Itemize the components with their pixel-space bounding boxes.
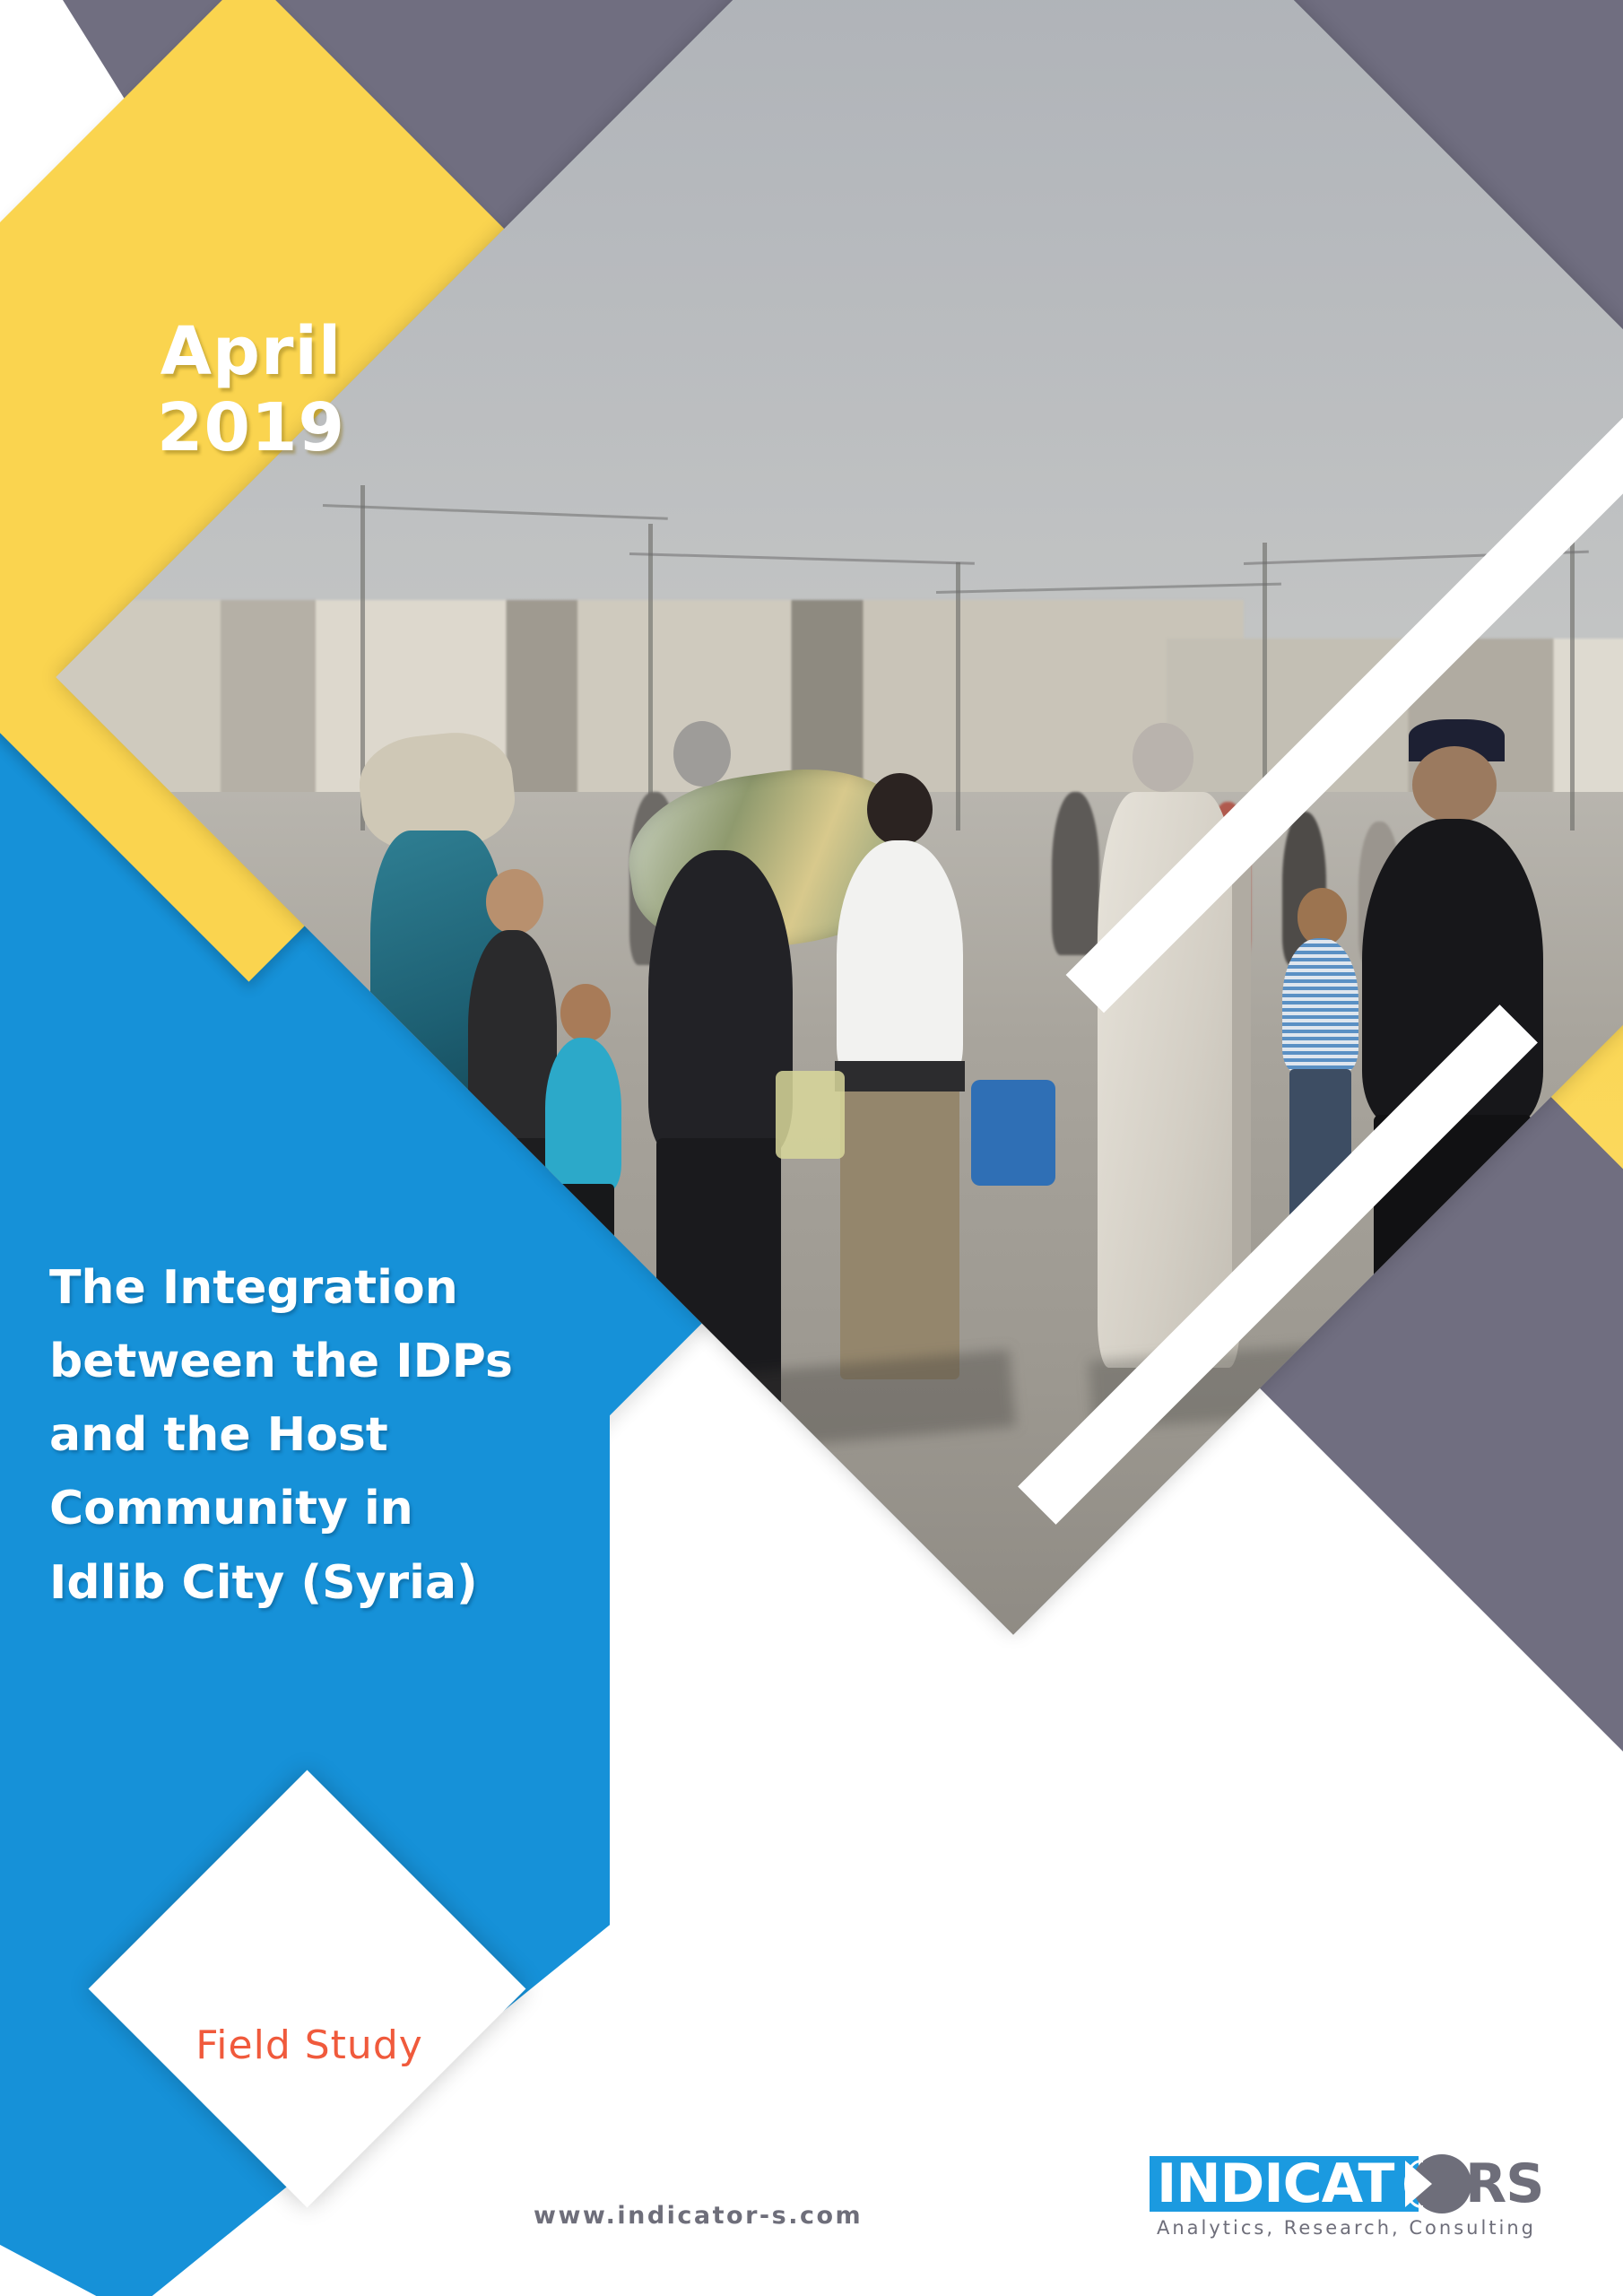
photo-figure-whiteshirt-legs xyxy=(840,1073,959,1379)
photo-pole xyxy=(648,524,653,831)
cover-page: April 2019 The Integration between the I… xyxy=(0,0,1623,2296)
photo-figure-child-head xyxy=(560,984,611,1041)
logo-word-secondary: RS xyxy=(1465,2152,1543,2215)
logo-word-primary: INDICAT xyxy=(1157,2152,1393,2215)
title-line-5: Idlib City (Syria) xyxy=(49,1546,641,1620)
photo-figure-man-head xyxy=(673,721,731,787)
photo-plastic-bag xyxy=(776,1071,845,1159)
logo-tagline: Analytics, Research, Consulting xyxy=(1157,2217,1536,2239)
date-year: 2019 xyxy=(54,390,448,466)
publication-date: April 2019 xyxy=(54,314,448,466)
play-circle-icon xyxy=(1412,2154,1471,2213)
photo-figure-whiteshirt-body xyxy=(837,840,963,1090)
title-line-1: The Integration xyxy=(49,1251,641,1325)
photo-figure-boy-head xyxy=(485,869,542,935)
page-title: The Integration between the IDPs and the… xyxy=(49,1251,641,1620)
photo-figure xyxy=(1052,792,1100,955)
indicators-logo: INDICAT RS Analytics, Research, Consulti… xyxy=(1150,2152,1598,2260)
photo-figure-black-head xyxy=(1412,746,1497,823)
photo-figure-child-body xyxy=(545,1038,622,1191)
photo-figure-man-body xyxy=(648,850,793,1157)
photo-figure-striped-body xyxy=(1282,938,1359,1073)
photo-figure-striped-head xyxy=(1298,888,1348,945)
photo-blue-bag xyxy=(971,1080,1055,1186)
field-study-label: Field Study xyxy=(99,2022,520,2068)
title-line-2: between the IDPs xyxy=(49,1325,641,1398)
photo-pole xyxy=(956,562,960,831)
title-line-4: Community in xyxy=(49,1472,641,1545)
website-url[interactable]: www.indicator-s.com xyxy=(534,2202,1036,2230)
photo-figure-elder-head xyxy=(1133,723,1193,792)
photo-figure-belt xyxy=(835,1061,966,1091)
photo-figure-man-legs xyxy=(656,1138,781,1407)
date-month: April xyxy=(54,314,448,390)
photo-figure-whiteshirt-head xyxy=(867,773,933,846)
title-line-3: and the Host xyxy=(49,1398,641,1472)
logo-wordmark: INDICAT RS xyxy=(1150,2152,1598,2215)
